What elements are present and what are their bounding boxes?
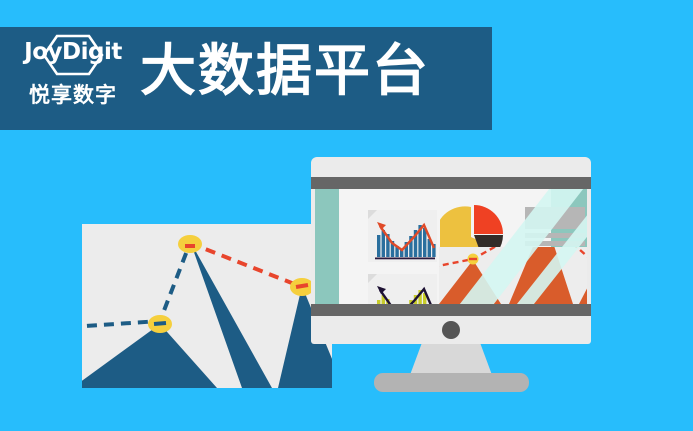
monitor-base — [374, 373, 529, 392]
logo-wordmark: JoyDigit — [14, 41, 132, 64]
text-block-line — [525, 233, 585, 238]
text-block-line — [525, 241, 585, 246]
chart-axis — [375, 258, 435, 260]
monitor-neck — [410, 344, 492, 375]
area-shape — [439, 247, 587, 304]
trend-line-blue — [82, 243, 190, 327]
orange-chart-surface — [439, 247, 587, 304]
mountain-trend-chart — [82, 224, 332, 388]
mountain-trend-panel — [82, 224, 332, 388]
page-fold-corner — [368, 210, 377, 219]
monitor-screen — [315, 189, 587, 304]
monitor-bottom-bar — [311, 304, 591, 316]
monitor-top-bar — [311, 177, 591, 189]
orange-mountain-chart[interactable] — [439, 247, 587, 304]
page-fold-corner — [368, 274, 377, 283]
desktop-monitor — [311, 157, 591, 392]
olive-bar-chart-card[interactable] — [368, 274, 437, 304]
trend-node-dash — [296, 285, 308, 287]
text-block-heading — [525, 207, 585, 229]
blue-bar-chart-card[interactable] — [368, 210, 437, 262]
logo-subtitle: 悦享数字 — [14, 85, 132, 106]
pie-slice-b — [474, 205, 503, 234]
brand-logo: JoyDigit 悦享数字 — [14, 33, 132, 121]
poster-canvas: JoyDigit 悦享数字 大数据平台 — [0, 0, 693, 431]
trend-node-dash — [154, 323, 166, 324]
screen-content-area — [339, 189, 551, 304]
overlay-dashed-line — [439, 247, 587, 267]
mountain-shape — [82, 241, 332, 388]
page-title: 大数据平台 — [140, 44, 430, 100]
power-button-icon[interactable] — [442, 321, 460, 339]
text-block-placeholder — [525, 207, 585, 252]
